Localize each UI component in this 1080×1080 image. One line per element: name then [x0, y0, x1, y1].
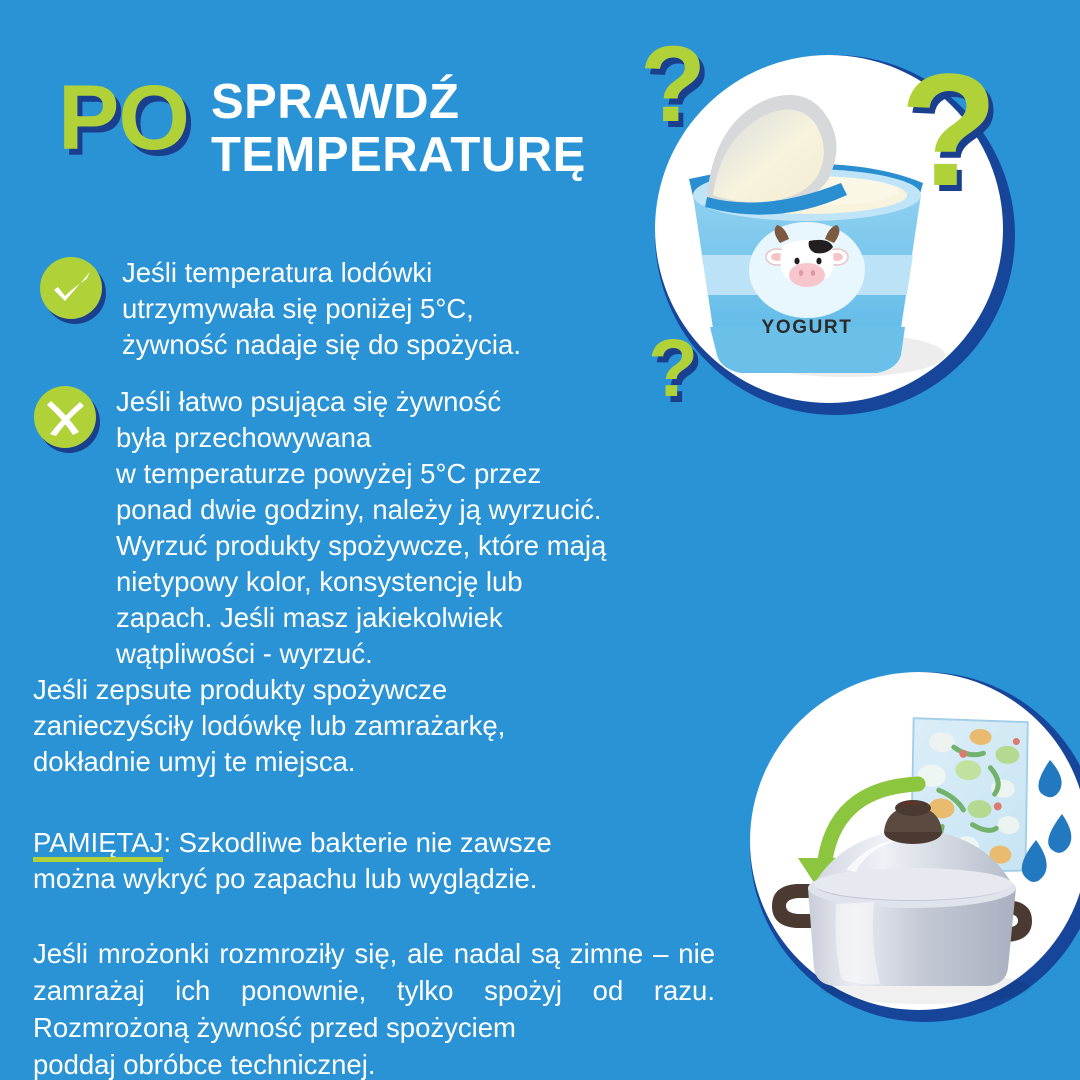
frozen-body: Jeśli mrożonki rozmroziły się, ale nadal…	[33, 938, 715, 1043]
title-line-2: TEMPERATURĘ	[211, 129, 586, 182]
paragraph-clean: Jeśli zepsute produkty spożywcze zaniecz…	[33, 672, 653, 780]
frozen-last-line: poddaj obróbce technicznej.	[33, 1046, 715, 1080]
illustration-circle-pot	[750, 672, 1080, 1022]
circle-white-background	[750, 672, 1080, 1010]
paragraph-frozen: Jeśli mrożonki rozmroziły się, ale nadal…	[33, 898, 715, 1080]
title-prefix-po: PO	[58, 74, 189, 162]
infographic-poster: YOGURT ? ? ?	[0, 0, 1080, 1080]
question-mark-icon-1: ?	[640, 30, 706, 138]
cross-icon	[34, 386, 96, 448]
bullet-text-safe: Jeśli temperatura lodówki utrzymywała si…	[122, 255, 521, 363]
page-title: PO SPRAWDŹ TEMPERATURĘ	[58, 62, 586, 182]
bullet-item-safe: Jeśli temperatura lodówki utrzymywała si…	[40, 255, 521, 363]
bullet-item-discard: Jeśli łatwo psująca się żywność była prz…	[34, 384, 606, 672]
question-mark-icon-3: ?	[648, 328, 698, 410]
question-mark-icon-2: ?	[900, 50, 998, 210]
bullet-text-discard: Jeśli łatwo psująca się żywność była prz…	[116, 384, 606, 672]
remember-keyword: PAMIĘTAJ	[33, 825, 163, 861]
title-line-1: SPRAWDŹ	[211, 76, 586, 129]
paragraph-remember: PAMIĘTAJ: Szkodliwe bakterie nie zawsze …	[33, 789, 653, 897]
check-icon	[40, 257, 102, 319]
title-main: SPRAWDŹ TEMPERATURĘ	[211, 76, 586, 182]
